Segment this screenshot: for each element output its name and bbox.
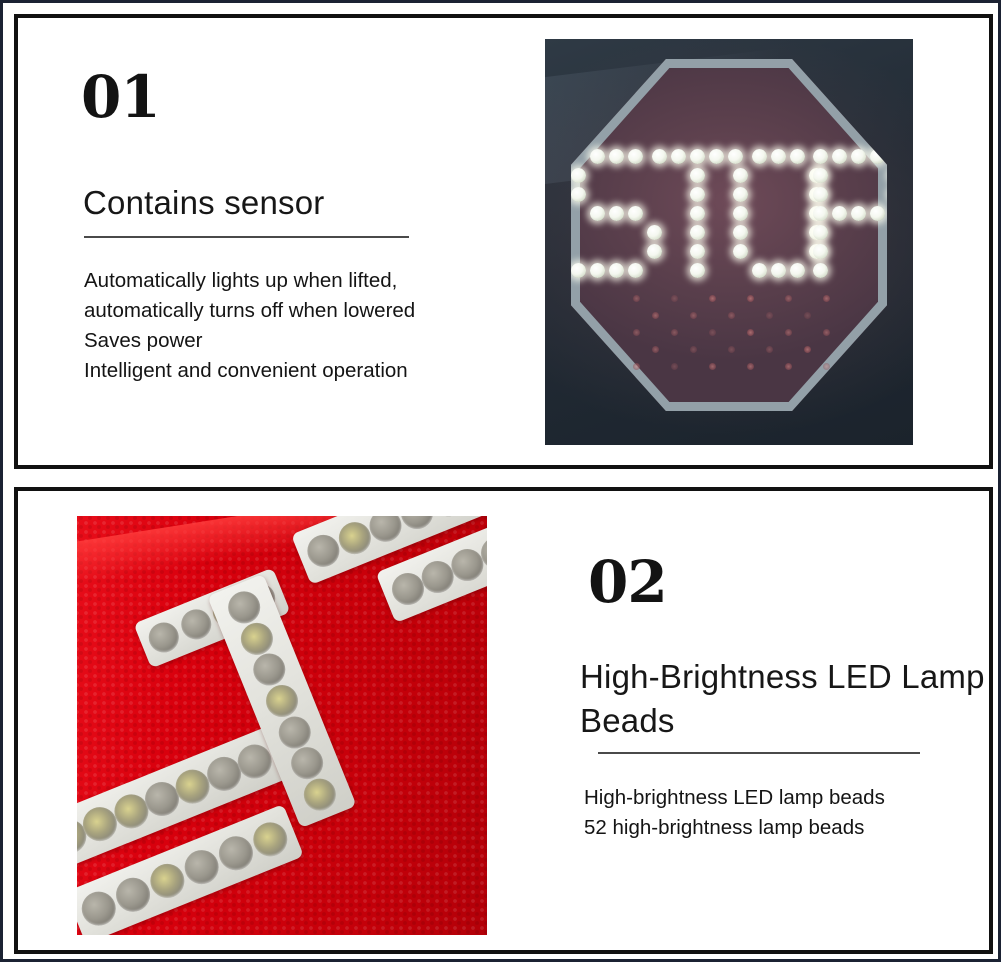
lamp-bead-cup: [248, 817, 292, 861]
feature-number-02: 02: [588, 553, 986, 611]
lamp-bead-cup: [111, 873, 155, 917]
led-bead: [628, 263, 643, 278]
feature-body-01: Automatically lights up when lifted, aut…: [84, 266, 493, 386]
feature-headline-01: Contains sensor: [83, 184, 493, 223]
unlit-led-bead: [747, 295, 754, 302]
octagon-sign-body: [571, 59, 887, 411]
stop-led-letters: [571, 154, 887, 274]
led-bead: [813, 263, 828, 278]
led-bead: [690, 244, 705, 259]
led-bead: [628, 149, 643, 164]
led-letter-s: [571, 149, 645, 279]
unlit-led-bead: [823, 295, 830, 302]
led-bead: [571, 263, 586, 278]
led-bead: [590, 263, 605, 278]
led-bead: [733, 206, 748, 221]
unlit-led-bead: [690, 346, 697, 353]
unlit-led-bead: [690, 312, 697, 319]
led-bead: [851, 149, 866, 164]
lamp-bead-cup: [396, 516, 438, 534]
unlit-led-bead: [728, 346, 735, 353]
unlit-led-bead: [804, 312, 811, 319]
led-bead: [571, 187, 586, 202]
led-bead: [752, 263, 767, 278]
unlit-led-bead: [785, 295, 792, 302]
unlit-led-bead: [633, 295, 640, 302]
led-bead: [813, 244, 828, 259]
lamp-bead-cup: [144, 618, 183, 657]
unlit-led-bead: [652, 346, 659, 353]
led-bead: [813, 149, 828, 164]
led-bead: [832, 149, 847, 164]
led-bead: [790, 149, 805, 164]
led-bead: [690, 225, 705, 240]
headline-underline-02: [598, 752, 920, 754]
led-bead: [813, 225, 828, 240]
led-bead: [771, 263, 786, 278]
feature-text-block-02: 02 High-Brightness LED Lamp Beads High-b…: [566, 553, 986, 843]
unlit-led-bead: [747, 363, 754, 370]
lamp-bead-cup: [427, 516, 469, 521]
led-letter-t: [652, 149, 726, 279]
led-bead: [690, 168, 705, 183]
led-bead: [690, 263, 705, 278]
headline-underline-01: [84, 236, 409, 238]
led-bead: [813, 168, 828, 183]
lamp-bead-cup: [299, 774, 341, 816]
led-bead: [851, 206, 866, 221]
unlit-led-bead: [728, 312, 735, 319]
led-bead: [733, 187, 748, 202]
lamp-bead-cup: [176, 605, 215, 644]
led-bead: [690, 149, 705, 164]
led-lamp-bead-closeup-photo: [77, 516, 487, 935]
unlit-led-bead: [652, 312, 659, 319]
unlit-led-bead: [633, 363, 640, 370]
lamp-bead-cup: [77, 887, 121, 931]
unlit-led-bead: [766, 346, 773, 353]
led-bead: [813, 206, 828, 221]
led-bead: [690, 206, 705, 221]
led-bead: [590, 149, 605, 164]
unlit-led-bead: [785, 329, 792, 336]
led-bead: [671, 149, 686, 164]
led-bead: [609, 206, 624, 221]
unlit-led-bead: [709, 295, 716, 302]
feature-panel-02: 02 High-Brightness LED Lamp Beads High-b…: [14, 487, 993, 954]
led-bead: [628, 206, 643, 221]
unlit-led-bead: [671, 329, 678, 336]
feature-body-02: High-brightness LED lamp beads 52 high-b…: [584, 783, 986, 843]
led-bead: [733, 168, 748, 183]
feature-number-01: 01: [81, 68, 493, 126]
unlit-led-bead: [823, 363, 830, 370]
unlit-led-bead: [785, 363, 792, 370]
led-bead: [832, 206, 847, 221]
unlit-led-bead: [766, 312, 773, 319]
unlit-led-bead: [633, 329, 640, 336]
led-bead: [813, 187, 828, 202]
led-bead: [752, 149, 767, 164]
unlit-led-bead: [823, 329, 830, 336]
infographic-frame: 01 Contains sensor Automatically lights …: [0, 0, 1001, 962]
led-bead: [771, 149, 786, 164]
led-bead: [709, 149, 724, 164]
lamp-bead-cup: [214, 831, 258, 875]
led-bead: [733, 225, 748, 240]
unlit-led-bead: [671, 363, 678, 370]
unlit-led-bead: [709, 363, 716, 370]
led-bead: [790, 263, 805, 278]
led-bead: [609, 263, 624, 278]
led-bead: [652, 149, 667, 164]
unlit-led-bead: [804, 346, 811, 353]
led-bead: [733, 244, 748, 259]
feature-text-block-01: 01 Contains sensor Automatically lights …: [73, 68, 493, 386]
led-bead: [609, 149, 624, 164]
feature-headline-02: High-Brightness LED Lamp Beads: [580, 655, 986, 743]
led-bead: [590, 206, 605, 221]
led-bead: [870, 206, 885, 221]
unlit-led-bead: [747, 329, 754, 336]
unlit-led-bead: [671, 295, 678, 302]
illuminated-stop-sign-photo: [545, 39, 913, 445]
lamp-bead-cup: [365, 516, 407, 546]
led-bead: [571, 168, 586, 183]
led-bead: [690, 187, 705, 202]
lamp-bead-cup: [180, 845, 224, 889]
feature-panel-01: 01 Contains sensor Automatically lights …: [14, 14, 993, 469]
led-letter-o: [733, 149, 807, 279]
led-letter-p: [813, 149, 887, 279]
lamp-bead-cup: [145, 859, 189, 903]
unlit-led-bead: [709, 329, 716, 336]
